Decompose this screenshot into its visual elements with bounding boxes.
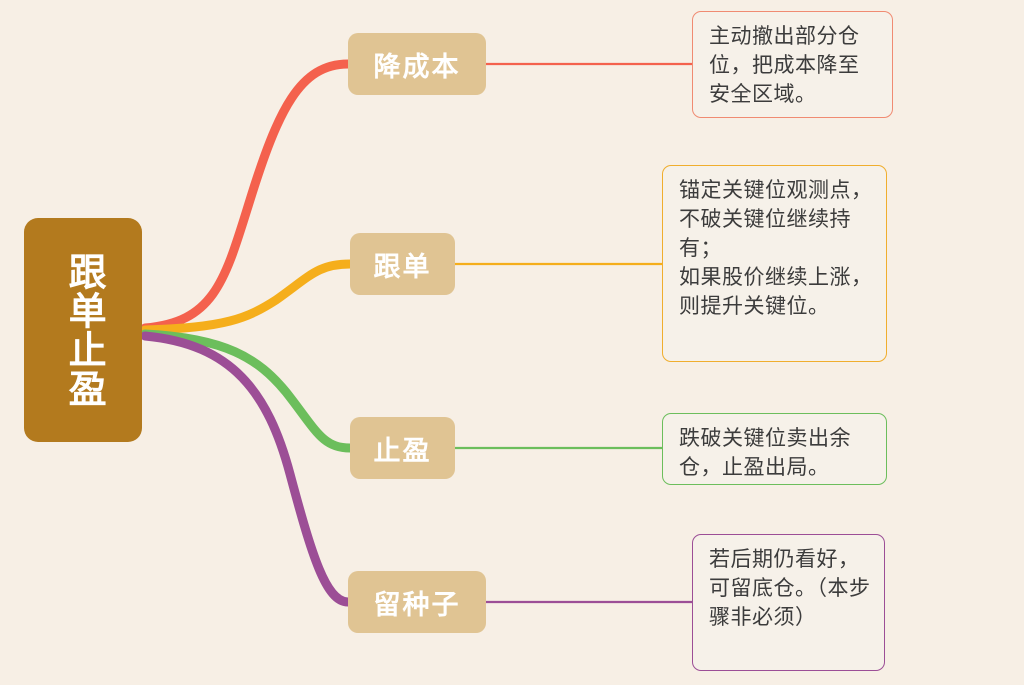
branch-node-2[interactable]: 跟单: [350, 233, 455, 295]
note-box-1-text: 主动撤出部分仓位，把成本降至安全区域。: [709, 23, 879, 110]
connector-branch-3: [145, 334, 350, 448]
branch-node-2-label: 跟单: [374, 245, 432, 284]
branch-node-4[interactable]: 留种子: [348, 571, 486, 633]
connector-branch-1: [145, 64, 348, 328]
branch-node-4-label: 留种子: [374, 583, 461, 622]
branch-node-1[interactable]: 降成本: [348, 33, 486, 95]
branch-node-1-label: 降成本: [374, 45, 461, 84]
note-box-4[interactable]: 若后期仍看好，可留底仓。（本步骤非必须）: [692, 534, 885, 671]
note-box-3[interactable]: 跌破关键位卖出余仓，止盈出局。: [662, 413, 887, 485]
branch-node-3-label: 止盈: [374, 429, 432, 468]
mindmap-canvas: 跟单止盈 降成本 主动撤出部分仓位，把成本降至安全区域。 跟单 锚定关键位观测点…: [0, 0, 1024, 685]
note-box-2[interactable]: 锚定关键位观测点，不破关键位继续持有； 如果股价继续上涨，则提升关键位。: [662, 165, 887, 362]
note-box-4-text: 若后期仍看好，可留底仓。（本步骤非必须）: [709, 546, 871, 633]
root-node[interactable]: 跟单止盈: [24, 218, 142, 442]
connector-branch-4: [145, 336, 348, 602]
branch-node-3[interactable]: 止盈: [350, 417, 455, 479]
note-box-1[interactable]: 主动撤出部分仓位，把成本降至安全区域。: [692, 11, 893, 118]
note-box-3-text: 跌破关键位卖出余仓，止盈出局。: [679, 425, 873, 483]
connector-branch-2: [145, 264, 350, 330]
root-node-label: 跟单止盈: [58, 252, 108, 408]
note-box-2-text: 锚定关键位观测点，不破关键位继续持有； 如果股价继续上涨，则提升关键位。: [679, 177, 873, 322]
